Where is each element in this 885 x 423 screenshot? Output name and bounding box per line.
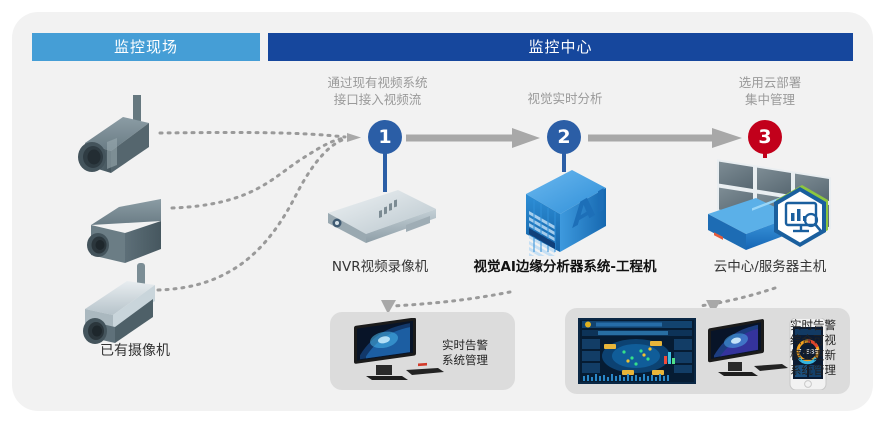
step-badge-2[interactable]: 2 [547, 120, 581, 154]
housing-camera-icon [83, 263, 155, 344]
outcome-left-line-2: 系统管理 [425, 353, 505, 368]
outcome-left-line-1: 实时告警 [425, 338, 505, 353]
outcome-right-text: 实时告警 综合可视 模型更新 系统管理 [780, 318, 846, 378]
device-label-cloud: 云中心/服务器主机 [680, 258, 860, 276]
outcome-right-line-3: 模型更新 [780, 348, 846, 363]
outcome-left-text: 实时告警 系统管理 [425, 338, 505, 368]
step-badge-1[interactable]: 1 [368, 120, 402, 154]
arrow-into-step-1 [347, 133, 361, 142]
arrow-step1-to-step2 [406, 128, 540, 148]
cameras-group [55, 95, 235, 345]
video-wall-icon [690, 158, 865, 263]
dashboard-screen-icon [578, 318, 696, 384]
result-line-left [392, 292, 510, 306]
device-label-ai-server: 视觉AI边缘分析器系统-工程机 [455, 258, 675, 276]
diagram-canvas: 监控现场 监控中心 通过现有视频系统 接口接入视频流 视觉实时分析 选用云部署 … [0, 0, 885, 423]
outcome-right-line-1: 实时告警 [780, 318, 846, 333]
ai-server-icon: AI [510, 160, 620, 256]
bullet-camera-icon [78, 95, 149, 173]
device-label-nvr: NVR视频录像机 [300, 258, 460, 276]
cameras-label: 已有摄像机 [40, 340, 230, 360]
box-camera-icon [87, 199, 161, 263]
outcome-right-line-2: 综合可视 [780, 333, 846, 348]
desktop-monitor-icon-right [700, 318, 790, 380]
arrow-step2-to-step3 [588, 128, 742, 148]
outcome-right-line-4: 系统管理 [780, 363, 846, 378]
step-badge-3[interactable]: 3 [748, 120, 782, 154]
nvr-icon [320, 185, 440, 247]
